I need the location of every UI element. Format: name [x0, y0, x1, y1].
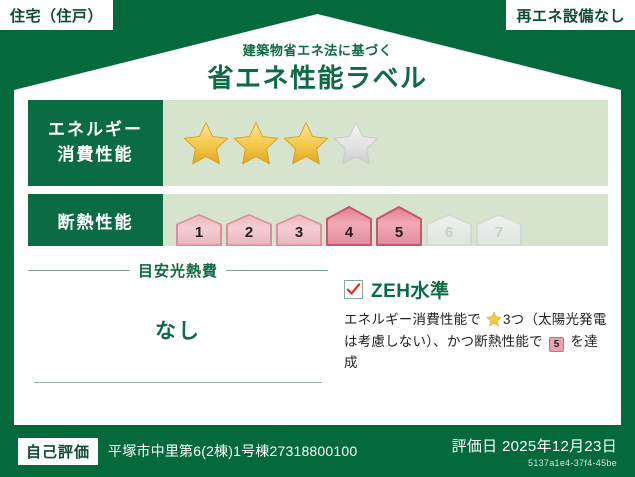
footer-left: 自己評価 平塚市中里第6(2棟)1号棟27318800100: [0, 438, 357, 465]
zeh-heading: ZEH水準: [344, 276, 608, 303]
lower-section: 目安光熱費 なし ZEH水準 エネルギー消費性能で: [28, 260, 608, 374]
energy-cost-title: 目安光熱費: [138, 260, 218, 281]
star-icon-filled: [233, 120, 279, 166]
zeh-desc-level-chip: 5: [549, 337, 565, 352]
cost-divider: [34, 382, 322, 383]
insulation-level-6: 6: [425, 214, 473, 246]
zeh-desc-part1: エネルギー消費性能で: [344, 312, 481, 327]
rule-right: [226, 270, 328, 271]
insulation-level-number: 1: [175, 224, 223, 241]
insulation-level-7: 7: [475, 214, 523, 246]
insulation-level-2: 2: [225, 214, 273, 246]
rule-left: [28, 270, 130, 271]
label-content: エネルギー 消費性能 断熱性能 1234567 目安光熱費 なし: [28, 100, 608, 374]
star-icon-filled: [183, 120, 229, 166]
insulation-level-number: 4: [325, 224, 373, 241]
insulation-level-5: 5: [375, 206, 423, 246]
evaluation-date-label: 評価日: [452, 438, 498, 455]
insulation-level-number: 3: [275, 224, 323, 241]
page-title: 省エネ性能ラベル: [0, 58, 635, 95]
energy-cost-heading: 目安光熱費: [28, 260, 328, 281]
check-icon: [346, 282, 361, 297]
insulation-performance-value: 1234567: [163, 194, 608, 246]
star-icon-filled: [283, 120, 329, 166]
zeh-block: ZEH水準 エネルギー消費性能で 3つ（太陽光発電 は考慮しない）、かつ断熱性能…: [328, 260, 608, 374]
insulation-level-1: 1: [175, 214, 223, 246]
zeh-desc-stars: 3つ（太陽光発電: [503, 312, 607, 327]
insulation-performance-label: 断熱性能: [28, 194, 163, 246]
insulation-level-number: 2: [225, 224, 273, 241]
energy-performance-row: エネルギー 消費性能: [28, 100, 608, 186]
zeh-title: ZEH水準: [371, 276, 450, 303]
evaluation-date: 評価日 2025年12月23日: [452, 435, 617, 456]
zeh-desc-part2: は考慮しない）、かつ断熱性能で: [344, 334, 543, 349]
insulation-level-3: 3: [275, 214, 323, 246]
zeh-description: エネルギー消費性能で 3つ（太陽光発電 は考慮しない）、かつ断熱性能で 5 を達…: [344, 309, 608, 374]
energy-label-line1: エネルギー: [48, 118, 143, 143]
header-subtitle: 建築物省エネ法に基づく: [0, 40, 635, 59]
property-address: 平塚市中里第6(2棟)1号棟27318800100: [108, 441, 357, 461]
energy-performance-value: [163, 100, 608, 186]
badge-renewable-energy: 再エネ設備なし: [506, 0, 635, 30]
zeh-checkbox[interactable]: [344, 280, 363, 299]
insulation-level-number: 6: [425, 224, 473, 241]
badge-building-type: 住宅（住戸）: [0, 0, 113, 30]
star-icon-inline: [486, 311, 502, 327]
insulation-performance-row: 断熱性能 1234567: [28, 194, 608, 246]
self-evaluation-badge: 自己評価: [18, 438, 98, 465]
star-rating: [163, 120, 379, 166]
label-footer: 自己評価 平塚市中里第6(2棟)1号棟27318800100 評価日 2025年…: [0, 425, 635, 477]
footer-right: 評価日 2025年12月23日 5137a1e4-37f4-45be: [452, 435, 635, 468]
energy-performance-label: 住宅（住戸） 再エネ設備なし 建築物省エネ法に基づく 省エネ性能ラベル エネルギ…: [0, 0, 635, 477]
energy-label-line2: 消費性能: [58, 143, 134, 168]
document-hash: 5137a1e4-37f4-45be: [452, 458, 617, 468]
insulation-level-4: 4: [325, 206, 373, 246]
insulation-level-scale: 1234567: [163, 194, 523, 246]
star-icon-empty: [333, 120, 379, 166]
insulation-level-number: 7: [475, 224, 523, 241]
energy-cost-block: 目安光熱費 なし: [28, 260, 328, 374]
energy-performance-label: エネルギー 消費性能: [28, 100, 163, 186]
insulation-level-number: 5: [375, 224, 423, 241]
energy-cost-value: なし: [28, 315, 328, 345]
evaluation-date-value: 2025年12月23日: [502, 438, 617, 455]
